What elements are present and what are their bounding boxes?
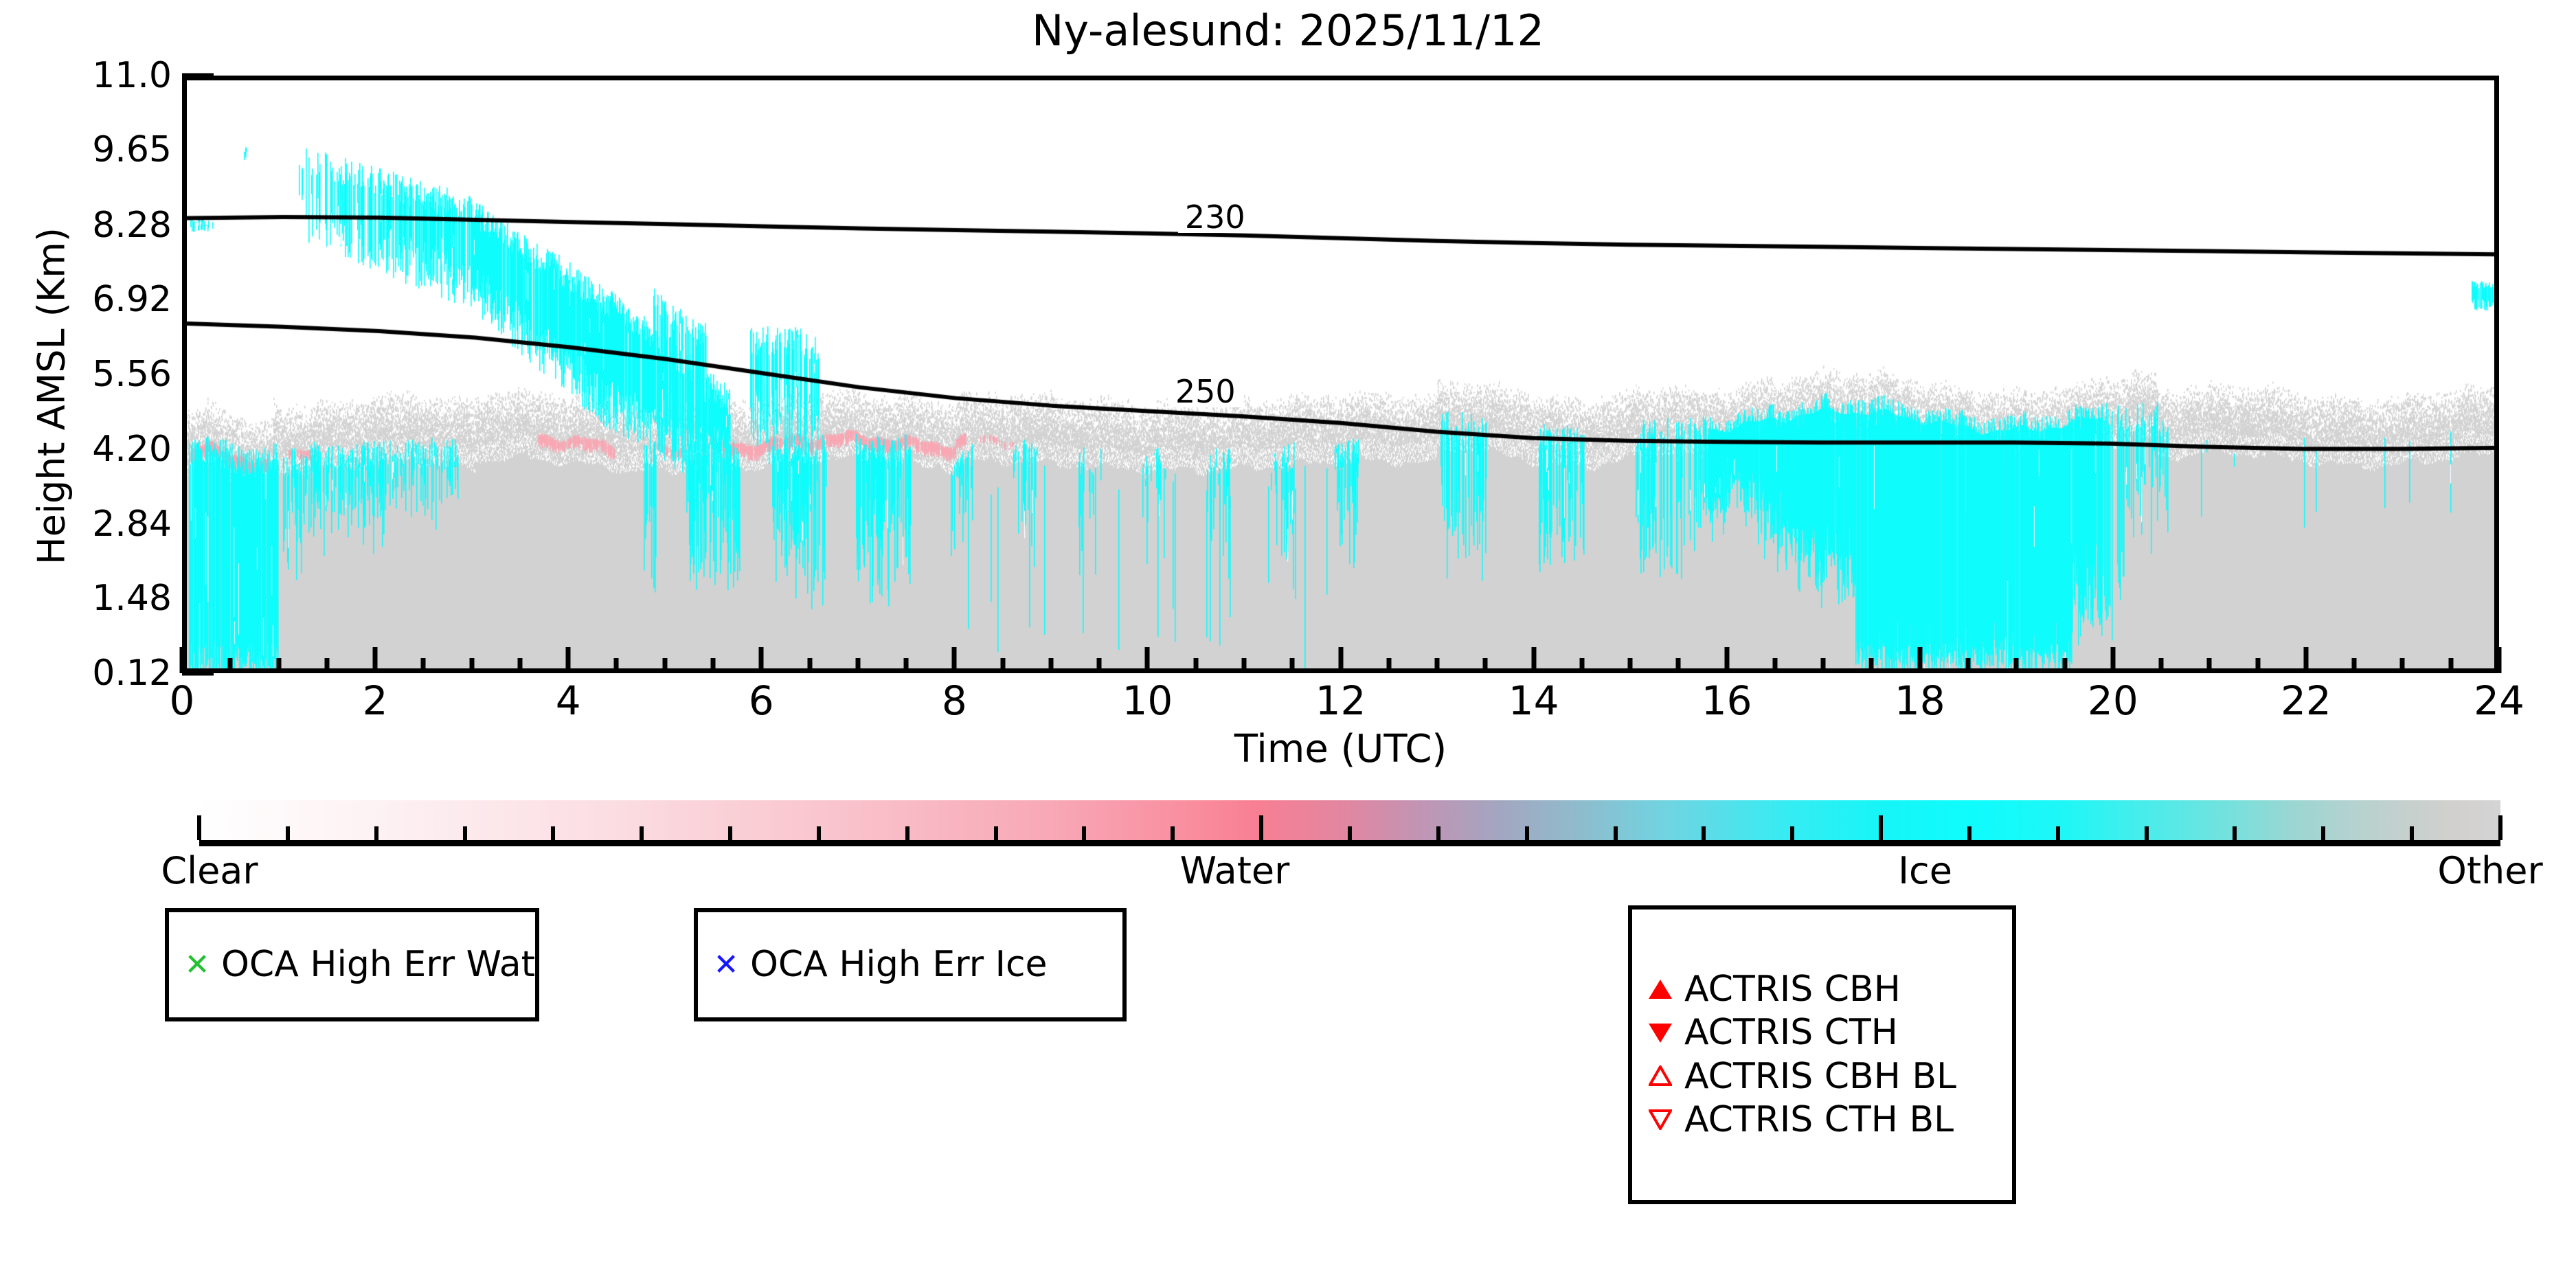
x-tick-mark (1483, 658, 1488, 673)
x-tick-label: 22 (2237, 677, 2375, 724)
x-tick-label: 0 (113, 677, 251, 724)
colorbar-tick (1525, 826, 1529, 840)
x-tick-mark (2448, 658, 2453, 673)
x-tick-mark (1290, 658, 1295, 673)
colorbar-tick (1614, 826, 1618, 840)
x-tick-mark (517, 658, 522, 673)
x-tick-mark (2110, 647, 2115, 673)
x-tick-mark (1772, 658, 1777, 673)
x-tick-mark (180, 647, 185, 673)
x-tick-mark (1628, 658, 1633, 673)
colorbar-tick (728, 826, 732, 840)
colorbar-label: Ice (1788, 849, 2063, 892)
x-tick-mark (807, 658, 812, 673)
legend-item-actris-cth: ACTRIS CTH (1632, 1011, 2012, 1054)
x-tick-mark (1193, 658, 1198, 673)
legend-label: ACTRIS CTH BL (1684, 1098, 1954, 1142)
triangle-down-filled-icon (1645, 1018, 1676, 1048)
x-tick-mark (2352, 658, 2357, 673)
x-tick-mark (1386, 658, 1391, 673)
x-tick-mark (2062, 658, 2067, 673)
cloud-classification-figure: Ny-alesund: 2025/11/12 Height AMSL (Km) … (0, 0, 2576, 1288)
colorbar-tick (905, 826, 909, 840)
legend-item-actris-cbh-bl: ACTRIS CBH BL (1632, 1055, 2012, 1098)
x-tick-mark (1531, 647, 1536, 673)
x-tick-label: 24 (2430, 677, 2568, 724)
legend-oca-high-err-ice[interactable]: ✕ OCA High Err Ice (694, 908, 1127, 1021)
x-tick-label: 10 (1078, 677, 1216, 724)
colorbar-tick (551, 826, 555, 840)
x-tick-mark (855, 658, 860, 673)
x-tick-mark (1724, 647, 1729, 673)
x-tick-label: 16 (1658, 677, 1796, 724)
x-tick-mark (2255, 658, 2260, 673)
colorbar-label: Clear (72, 849, 347, 892)
x-tick-mark (421, 658, 426, 673)
colorbar (199, 800, 2500, 840)
colorbar-tick (2233, 826, 2237, 840)
legend-item: ✕ OCA High Err Ice (698, 943, 1122, 986)
colorbar-tick (197, 815, 201, 840)
contour-label: 230 (1178, 201, 1252, 233)
x-tick-mark (662, 658, 667, 673)
y-tick-label: 6.92 (0, 279, 172, 320)
colorbar-tick (2056, 826, 2060, 840)
x-tick-mark (373, 647, 378, 673)
colorbar-tick (1082, 826, 1086, 840)
triangle-up-filled-icon (1645, 974, 1676, 1004)
colorbar-tick (286, 826, 290, 840)
plot-area (182, 76, 2499, 673)
colorbar-tick (1348, 826, 1352, 840)
legend-label: ACTRIS CTH (1684, 1011, 1898, 1054)
x-tick-label: 6 (692, 677, 830, 724)
contour-label: 250 (1168, 376, 1243, 407)
colorbar-tick (1967, 826, 1971, 840)
x-tick-label: 4 (499, 677, 637, 724)
x-tick-mark (1000, 658, 1005, 673)
x-tick-mark (1917, 647, 1922, 673)
legend-label: OCA High Err Ice (750, 943, 1048, 986)
legend-label: ACTRIS CBH BL (1684, 1055, 1956, 1098)
y-tick-label: 2.84 (0, 504, 172, 545)
legend-actris[interactable]: ACTRIS CBH ACTRIS CTH ACTRIS CBH BL ACTR… (1628, 905, 2016, 1204)
x-tick-mark (1048, 658, 1053, 673)
x-tick-label: 2 (306, 677, 444, 724)
colorbar-tick (1879, 815, 1883, 840)
y-tick-label: 8.28 (0, 205, 172, 246)
y-tick-label: 1.48 (0, 578, 172, 619)
y-tick-label: 5.56 (0, 354, 172, 395)
colorbar-tick (2321, 826, 2325, 840)
x-tick-label: 8 (885, 677, 1023, 724)
y-tick-label: 9.65 (0, 129, 172, 170)
legend-oca-high-err-wat[interactable]: ✕ OCA High Err Wat (165, 908, 539, 1021)
x-tick-mark (1145, 647, 1150, 673)
x-tick-label: 18 (1851, 677, 1989, 724)
colorbar-tick (1171, 826, 1175, 840)
x-tick-mark (1821, 658, 1826, 673)
x-tick-mark (1966, 658, 1971, 673)
x-tick-mark (276, 658, 281, 673)
colorbar-tick (994, 826, 998, 840)
x-tick-mark (904, 658, 909, 673)
colorbar-tick (1790, 826, 1794, 840)
x-tick-mark (1579, 658, 1584, 673)
x-tick-mark (2400, 658, 2405, 673)
x-tick-label: 20 (2044, 677, 2182, 724)
legend-item-actris-cth-bl: ACTRIS CTH BL (1632, 1098, 2012, 1142)
colorbar-tick (1259, 815, 1263, 840)
x-tick-label: 14 (1465, 677, 1603, 724)
x-tick-mark (324, 658, 329, 673)
colorbar-tick (463, 826, 467, 840)
x-tick-mark (2207, 658, 2212, 673)
colorbar-label: Water (1098, 849, 1372, 892)
legend-label: ACTRIS CBH (1684, 968, 1901, 1011)
x-cross-icon: ✕ (710, 950, 742, 980)
colorbar-tick (2410, 826, 2414, 840)
x-tick-mark (566, 647, 571, 673)
x-tick-mark (228, 658, 233, 673)
x-tick-mark (1097, 658, 1102, 673)
x-cross-icon: ✕ (181, 950, 213, 980)
x-tick-mark (2497, 647, 2502, 673)
x-tick-mark (710, 658, 715, 673)
legend-label: OCA High Err Wat (221, 943, 535, 986)
x-tick-mark (614, 658, 619, 673)
colorbar-tick (640, 826, 644, 840)
x-tick-mark (2014, 658, 2019, 673)
legend-item-actris-cbh: ACTRIS CBH (1632, 968, 2012, 1011)
x-tick-mark (952, 647, 957, 673)
y-tick-label: 11.0 (0, 55, 172, 96)
x-tick-mark (759, 647, 764, 673)
page-title: Ny-alesund: 2025/11/12 (0, 5, 2576, 56)
x-tick-mark (2303, 647, 2308, 673)
colorbar-tick (1702, 826, 1706, 840)
x-tick-mark (2159, 658, 2164, 673)
colorbar-tick (817, 826, 821, 840)
x-tick-mark (1435, 658, 1440, 673)
y-tick-label: 4.20 (0, 429, 172, 470)
legend-item: ✕ OCA High Err Wat (169, 943, 535, 986)
colorbar-label: Other (2353, 849, 2576, 892)
colorbar-tick (2145, 826, 2149, 840)
x-tick-label: 12 (1272, 677, 1410, 724)
colorbar-axis-line (199, 840, 2500, 846)
triangle-down-open-icon (1645, 1105, 1676, 1136)
x-tick-mark (1676, 658, 1681, 673)
cloud-mask-canvas (187, 80, 2494, 668)
x-tick-mark (1241, 658, 1246, 673)
x-tick-mark (469, 658, 474, 673)
colorbar-tick (374, 826, 379, 840)
x-tick-mark (1338, 647, 1343, 673)
x-tick-mark (1869, 658, 1874, 673)
colorbar-tick (1436, 826, 1440, 840)
triangle-up-open-icon (1645, 1061, 1676, 1092)
x-axis-label: Time (UTC) (182, 727, 2499, 771)
colorbar-tick (2498, 815, 2502, 840)
